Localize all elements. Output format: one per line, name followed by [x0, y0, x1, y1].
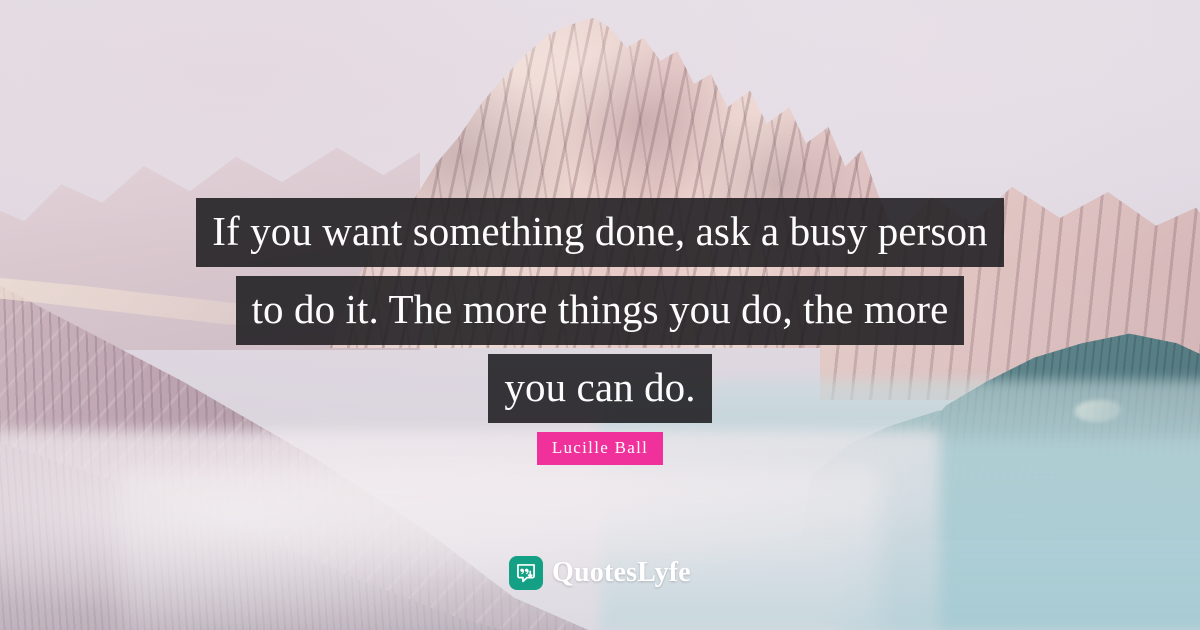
quote-line-3: you can do.	[488, 354, 711, 423]
quote-line-1: If you want something done, ask a busy p…	[196, 198, 1003, 267]
quote-line-row: If you want something done, ask a busy p…	[0, 198, 1200, 276]
author-badge-wrapper: Lucille Ball	[0, 432, 1200, 465]
brand-name: QuotesLyfe	[552, 559, 691, 587]
quote-line-row: you can do.	[0, 354, 1200, 432]
quote-bubble-icon	[509, 556, 543, 590]
quote-line-row: to do it. The more things you do, the mo…	[0, 276, 1200, 354]
brand-logo[interactable]: QuotesLyfe	[0, 556, 1200, 590]
quote-card: If you want something done, ask a busy p…	[0, 0, 1200, 630]
author-badge[interactable]: Lucille Ball	[537, 432, 663, 465]
quote-line-2: to do it. The more things you do, the mo…	[236, 276, 965, 345]
quote-text-block: If you want something done, ask a busy p…	[0, 198, 1200, 432]
